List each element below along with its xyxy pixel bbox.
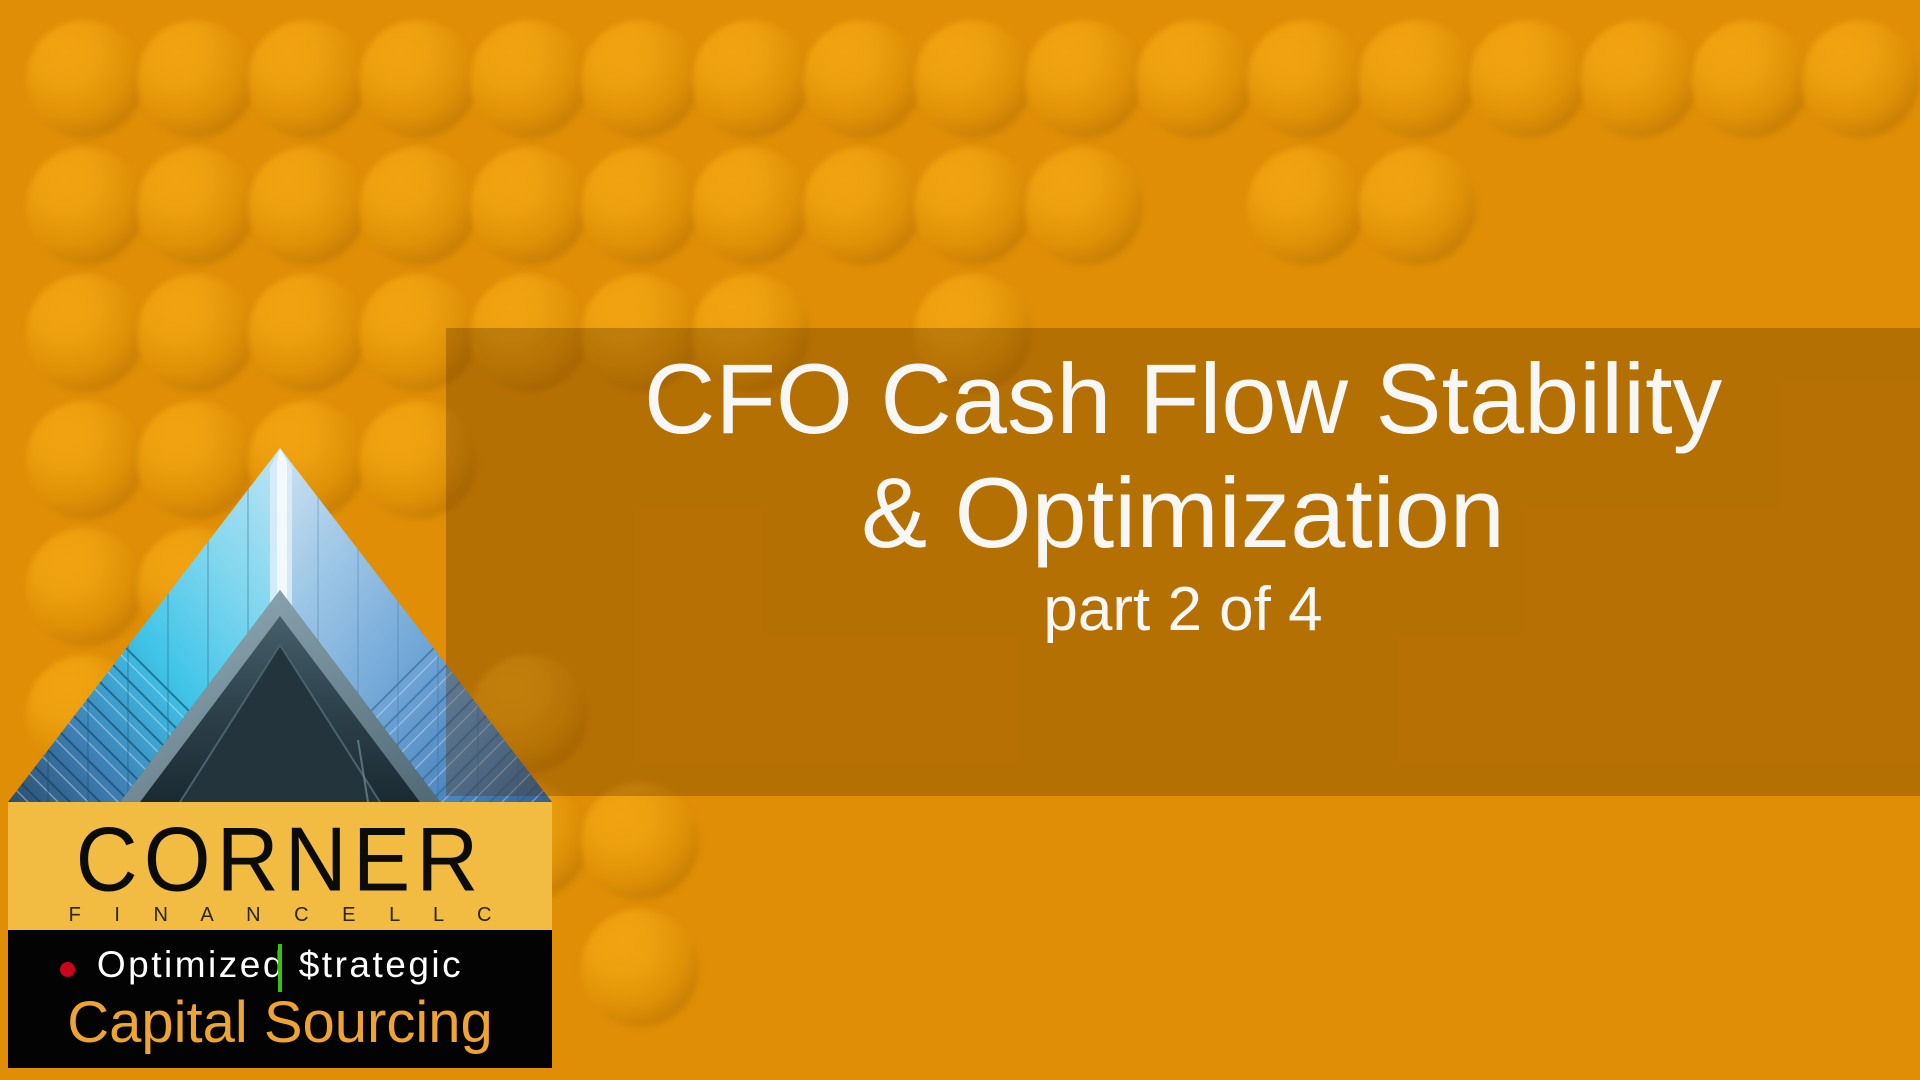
background-dimple: [26, 274, 144, 392]
title-line-1: CFO Cash Flow Stability: [644, 342, 1722, 456]
background-dimple: [26, 20, 144, 138]
background-dimple: [1580, 20, 1698, 138]
slide-canvas: CFO Cash Flow Stability & Optimization p…: [0, 0, 1920, 1080]
background-dimple: [581, 909, 699, 1027]
background-dimple: [137, 20, 255, 138]
background-dimple: [803, 147, 921, 265]
background-dimple: [359, 147, 477, 265]
background-dimple: [1025, 147, 1143, 265]
background-dimple: [1247, 20, 1365, 138]
logo-wordmark-band: CORNER F I N A N C E L L C: [8, 802, 552, 930]
background-dimple: [26, 147, 144, 265]
background-dimple: [1469, 20, 1587, 138]
background-dimple: [470, 147, 588, 265]
background-dimple: [803, 20, 921, 138]
background-dimple: [581, 147, 699, 265]
title-block: CFO Cash Flow Stability & Optimization p…: [446, 328, 1920, 796]
background-dimple: [248, 147, 366, 265]
background-dimple: [914, 20, 1032, 138]
corner-finance-logo[interactable]: CORNER F I N A N C E L L C Optimized $tr…: [8, 802, 552, 1068]
logo-tagline-line-1: Optimized $trategic: [8, 940, 552, 990]
background-dimple: [692, 20, 810, 138]
background-dimple: [1358, 20, 1476, 138]
background-dimple: [581, 20, 699, 138]
page-title: CFO Cash Flow Stability & Optimization: [644, 342, 1722, 570]
logo-brand-name: CORNER: [8, 810, 552, 910]
background-dimple: [137, 147, 255, 265]
dollar-stroke-icon: [278, 944, 282, 992]
title-line-2: & Optimization: [644, 456, 1722, 570]
background-dimple: [137, 274, 255, 392]
background-dimple: [470, 20, 588, 138]
background-dimple: [359, 20, 477, 138]
background-dimple: [692, 147, 810, 265]
background-dimple: [1247, 147, 1365, 265]
background-dimple: [1691, 20, 1809, 138]
page-subtitle: part 2 of 4: [1043, 576, 1322, 644]
background-dimple: [914, 147, 1032, 265]
background-dimple: [248, 20, 366, 138]
background-dimple: [1136, 20, 1254, 138]
background-dimple: [248, 274, 366, 392]
logo-tagline-band: Optimized $trategic Capital Sourcing: [8, 930, 552, 1068]
red-dot-icon: [60, 962, 75, 977]
background-dimple: [1358, 147, 1476, 265]
background-dimple: [1025, 20, 1143, 138]
background-dimple: [581, 782, 699, 900]
background-dimple: [1802, 20, 1920, 138]
logo-tagline-line-2: Capital Sourcing: [8, 990, 552, 1056]
